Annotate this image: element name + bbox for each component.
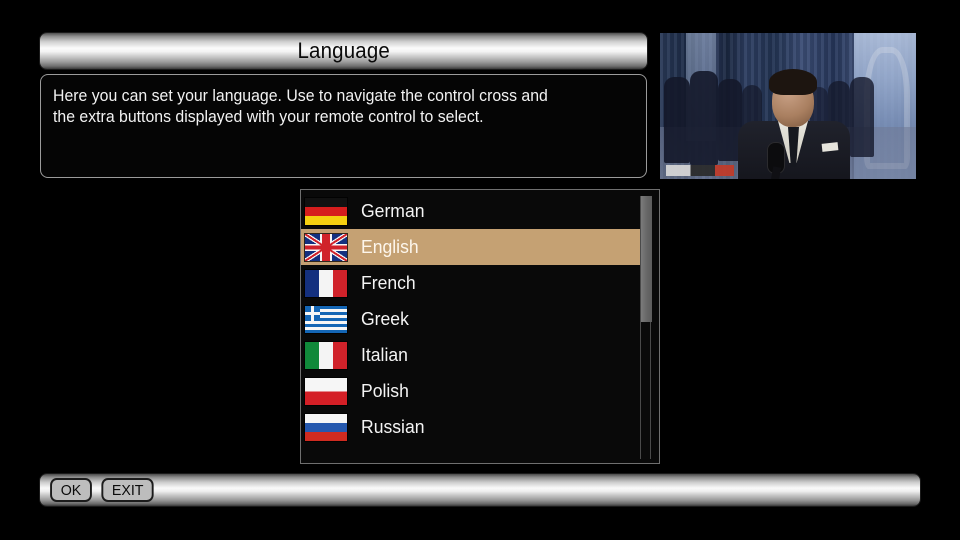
list-item-label: Italian [361, 344, 408, 366]
list-item-italian[interactable]: Italian [301, 337, 643, 373]
list-item-label: Greek [361, 308, 409, 330]
ok-button[interactable]: OK [50, 478, 92, 502]
list-item-french[interactable]: French [301, 265, 643, 301]
exit-button[interactable]: EXIT [101, 478, 154, 502]
list-item-polish[interactable]: Polish [301, 373, 643, 409]
help-text: Here you can set your language. Use to n… [53, 86, 609, 128]
language-list-panel[interactable]: German English French Greek Italian Poli [300, 189, 660, 464]
list-item-label: French [361, 272, 416, 294]
list-item-label: English [361, 236, 419, 258]
flag-germany-icon [305, 198, 347, 225]
window-title-bar: Language [40, 33, 647, 69]
video-reporter-pocket-square [822, 142, 839, 152]
flag-russia-icon [305, 414, 347, 441]
flag-greece-icon [305, 306, 347, 333]
video-crowd-figure [690, 71, 718, 165]
list-item-greek[interactable]: Greek [301, 301, 643, 337]
list-item-label: Russian [361, 416, 425, 438]
list-item-english[interactable]: English [301, 229, 643, 265]
video-reporter-hair [769, 69, 817, 95]
tv-settings-screen: Language Here you can set your language.… [0, 0, 960, 540]
list-scrollbar-thumb[interactable] [641, 196, 652, 322]
list-item-russian[interactable]: Russian [301, 409, 643, 445]
help-text-box: Here you can set your language. Use to n… [40, 74, 647, 178]
list-item-label: German [361, 200, 424, 222]
list-item-label: Polish [361, 380, 409, 402]
page-title: Language [297, 38, 390, 64]
video-crowd-figure [664, 77, 690, 163]
language-list: German English French Greek Italian Poli [301, 193, 643, 445]
list-item-german[interactable]: German [301, 193, 643, 229]
bottom-toolbar: OK EXIT [40, 474, 920, 506]
video-crowd-figure [850, 77, 874, 157]
live-tv-preview[interactable] [660, 33, 916, 179]
flag-italy-icon [305, 342, 347, 369]
flag-poland-icon [305, 378, 347, 405]
flag-france-icon [305, 270, 347, 297]
video-channel-bug [666, 165, 734, 176]
flag-united-kingdom-icon [305, 234, 347, 261]
list-scrollbar-track[interactable] [640, 196, 651, 459]
